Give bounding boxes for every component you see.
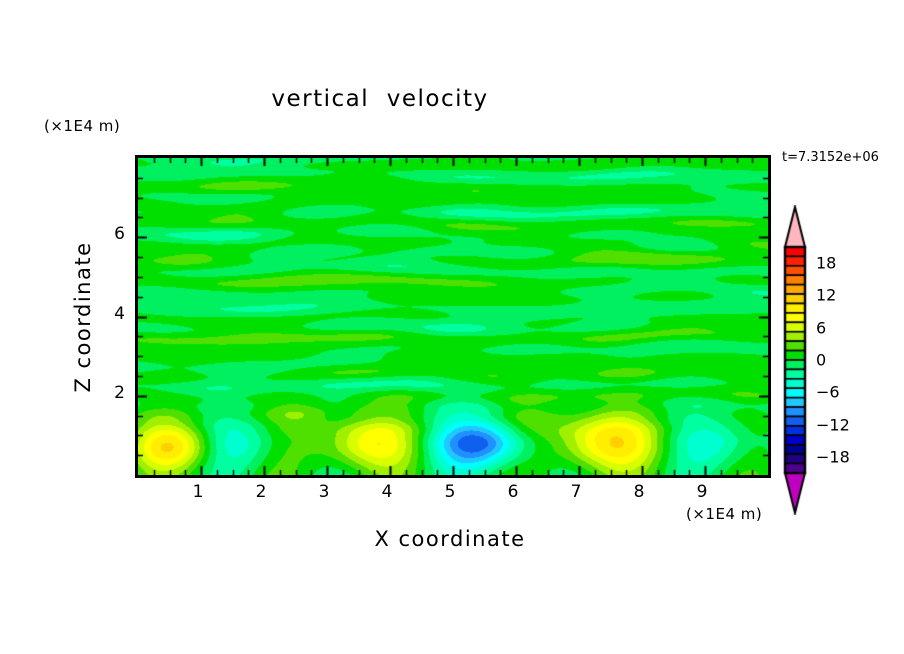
page-title: vertical velocity — [0, 86, 760, 112]
x-tick-label: 3 — [319, 482, 330, 502]
plot-area — [135, 155, 771, 478]
colorbar-label: 0 — [816, 351, 826, 370]
x-tick-label: 9 — [697, 482, 708, 502]
x-tick-label: 2 — [256, 482, 267, 502]
contour-field-canvas — [138, 158, 768, 475]
colorbar-label: −18 — [816, 447, 850, 466]
x-tick-label: 5 — [445, 482, 456, 502]
colorbar-label: 18 — [816, 254, 836, 273]
colorbar-label: −6 — [816, 383, 840, 402]
x-axis-unit-label: (×1E4 m) — [686, 505, 762, 523]
x-tick-label: 6 — [508, 482, 519, 502]
colorbar-canvas — [778, 205, 812, 515]
colorbar-label: 12 — [816, 286, 836, 305]
x-tick-label: 4 — [382, 482, 393, 502]
timestamp-annotation: t=7.3152e+06 — [782, 150, 879, 165]
x-tick-label: 8 — [634, 482, 645, 502]
figure-root: vertical velocity (×1E4 m) t=7.3152e+06 … — [0, 0, 904, 654]
y-axis-title: Z coordinate — [71, 217, 95, 417]
x-axis-title: X coordinate — [135, 527, 765, 551]
y-axis-unit-label: (×1E4 m) — [44, 117, 120, 135]
y-tick-label: 6 — [101, 224, 125, 244]
y-tick-label: 4 — [101, 304, 125, 324]
colorbar — [778, 205, 812, 515]
x-tick-label: 1 — [193, 482, 204, 502]
x-tick-label: 7 — [571, 482, 582, 502]
y-tick-label: 2 — [101, 383, 125, 403]
colorbar-label: −12 — [816, 415, 850, 434]
colorbar-label: 6 — [816, 318, 826, 337]
